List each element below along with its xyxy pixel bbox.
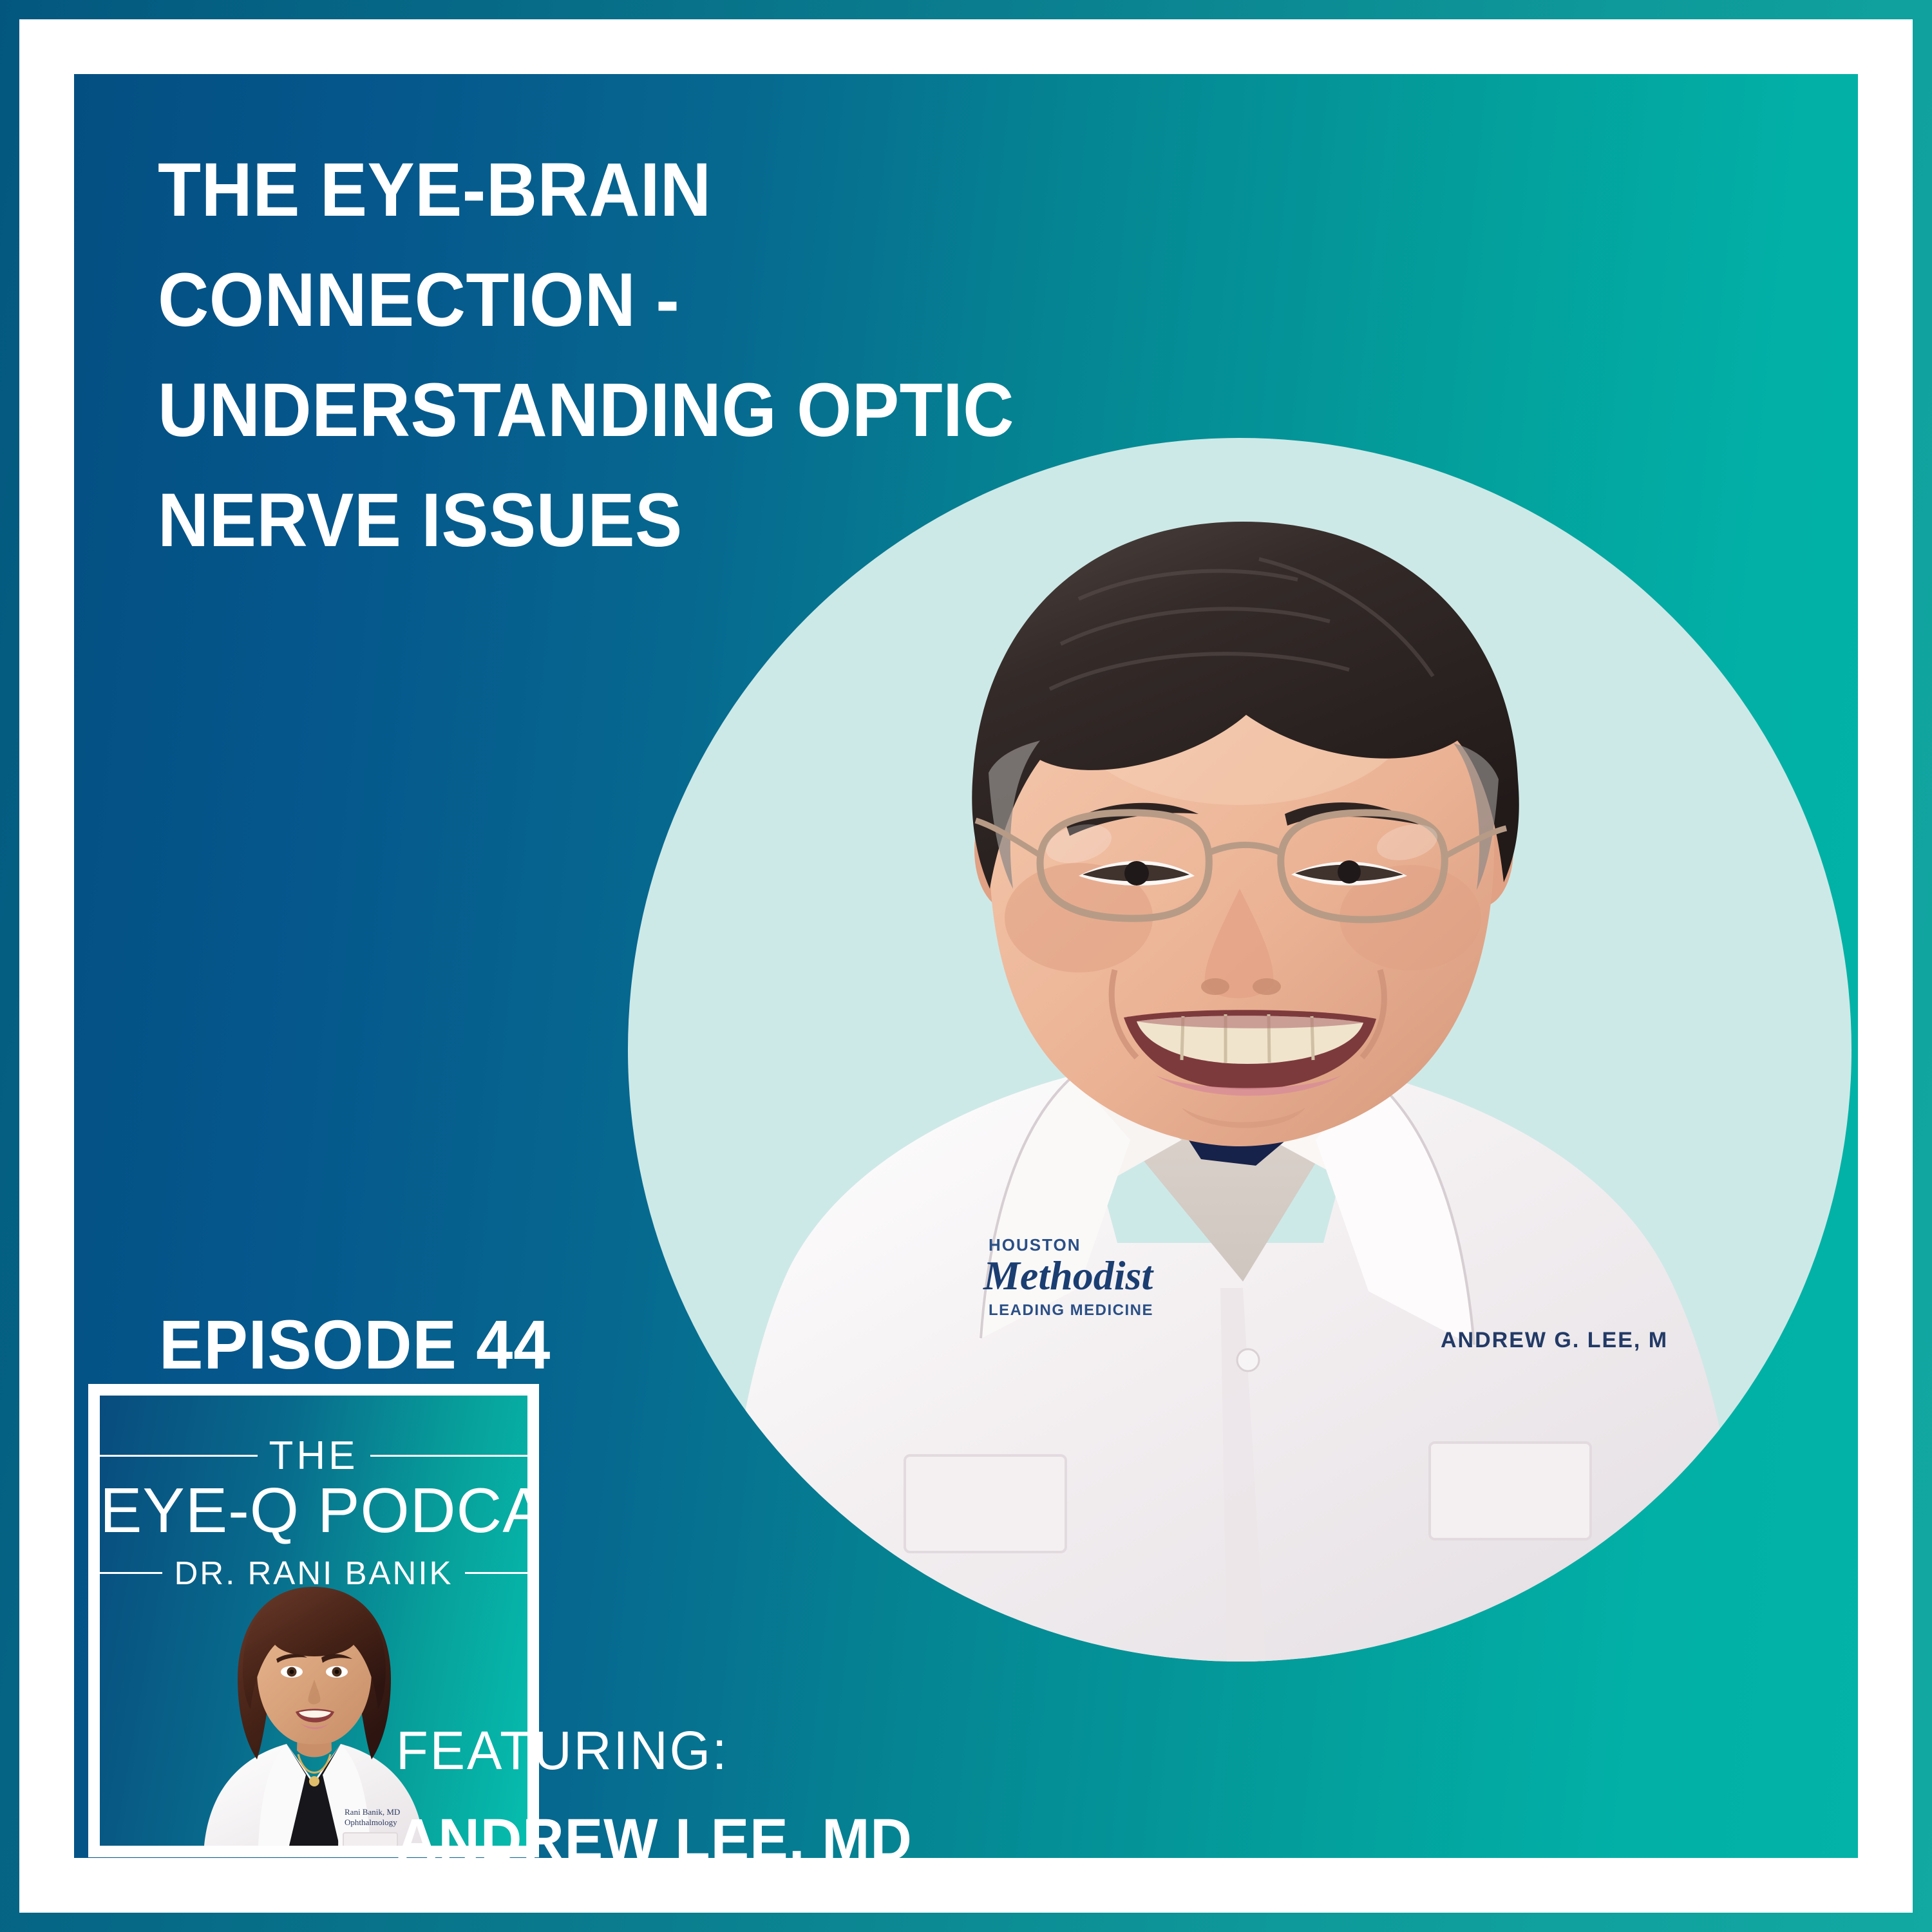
host-photo: Rani Banik, MD Ophthalmology <box>178 1569 449 1846</box>
logo-the-word: THE <box>269 1433 359 1479</box>
cover-frame: HOUSTON Methodist LEADING MEDICINE ANDRE… <box>19 19 1913 1913</box>
divider-line-right <box>465 1572 527 1574</box>
svg-text:Methodist: Methodist <box>983 1253 1154 1298</box>
divider-line-left <box>100 1455 258 1457</box>
svg-text:HOUSTON: HOUSTON <box>989 1235 1081 1255</box>
logo-show-name: EYE-Q PODCAST <box>100 1474 527 1547</box>
svg-text:LEADING MEDICINE: LEADING MEDICINE <box>989 1302 1153 1319</box>
podcast-logo-card[interactable]: THE EYE-Q PODCAST DR. RANI BANIK <box>88 1384 539 1857</box>
logo-the-row: THE <box>100 1433 527 1479</box>
page-title: THE EYE-BRAIN CONNECTION - UNDERSTANDING… <box>158 135 1206 576</box>
guest-portrait-illustration: HOUSTON Methodist LEADING MEDICINE ANDRE… <box>628 438 1851 1662</box>
divider-line-left <box>100 1572 162 1574</box>
divider-line-right <box>370 1455 528 1457</box>
featuring-guest-name: ANDREW LEE, MD <box>396 1806 913 1858</box>
featuring-label: FEATURING: <box>396 1719 728 1782</box>
guest-circle-backdrop: HOUSTON Methodist LEADING MEDICINE ANDRE… <box>628 438 1851 1662</box>
host-coat-specialty: Ophthalmology <box>345 1817 397 1827</box>
host-coat-name: Rani Banik, MD <box>345 1807 400 1817</box>
cover-panel: HOUSTON Methodist LEADING MEDICINE ANDRE… <box>74 74 1858 1858</box>
guest-coat-name-embroidery: ANDREW G. LEE, M <box>1441 1328 1668 1352</box>
episode-label: EPISODE 44 <box>159 1304 551 1385</box>
guest-portrait: HOUSTON Methodist LEADING MEDICINE ANDRE… <box>628 438 1851 1662</box>
